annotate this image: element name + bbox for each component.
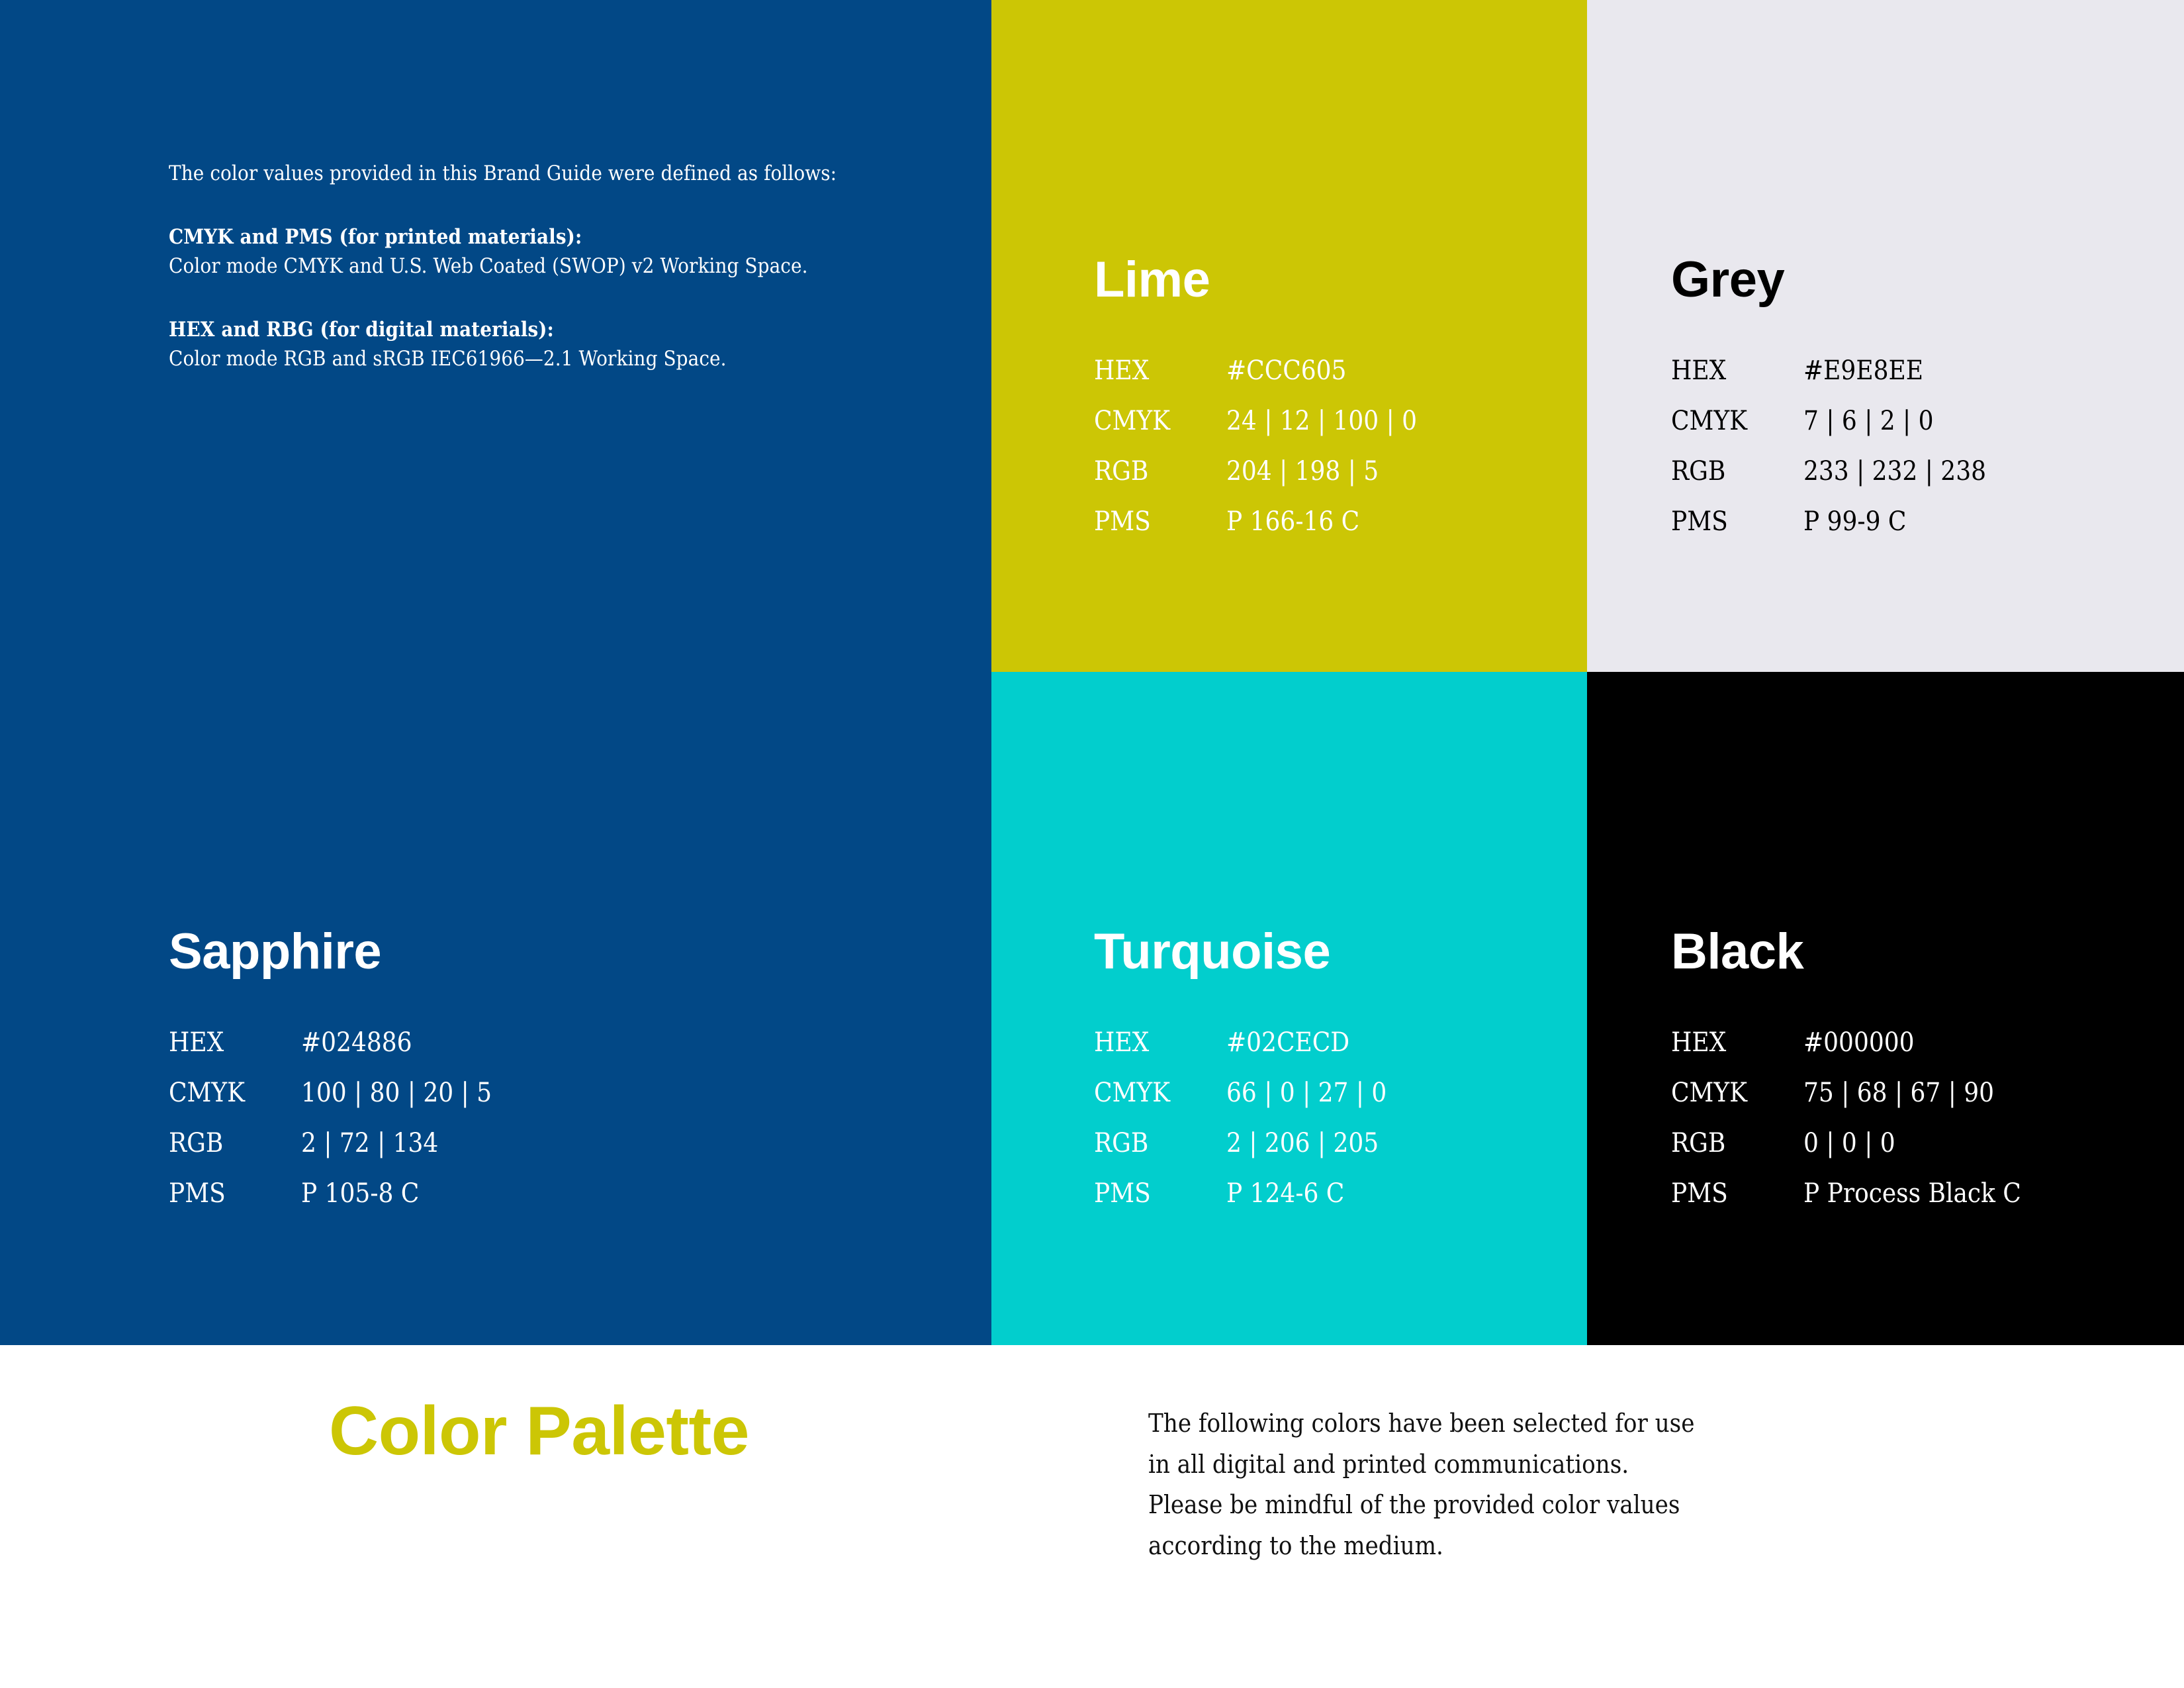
spec-label-cmyk: CMYK xyxy=(1671,1080,1803,1130)
spec-value-hex: #000000 xyxy=(1803,1029,2021,1080)
swatch-title-turquoise: Turquoise xyxy=(1094,927,1387,977)
spec-label-rgb: RGB xyxy=(1094,458,1226,508)
spec-row-cmyk: CMYK 7 | 6 | 2 | 0 xyxy=(1671,408,1986,458)
swatch-block-black: Black HEX #000000 CMYK 75 | 68 | 67 | 90… xyxy=(1671,927,2021,1207)
spec-row-cmyk: CMYK 24 | 12 | 100 | 0 xyxy=(1094,408,1417,458)
spec-value-rgb: 2 | 206 | 205 xyxy=(1226,1130,1387,1180)
spec-row-pms: PMS P 99-9 C xyxy=(1671,508,1986,535)
spec-label-hex: HEX xyxy=(1094,357,1226,408)
spec-label-rgb: RGB xyxy=(1094,1130,1226,1180)
spec-row-pms: PMS P 124-6 C xyxy=(1094,1180,1387,1207)
spec-row-hex: HEX #CCC605 xyxy=(1094,357,1417,408)
spec-value-cmyk: 100 | 80 | 20 | 5 xyxy=(301,1080,492,1130)
spec-row-rgb: RGB 204 | 198 | 5 xyxy=(1094,458,1417,508)
swatch-spacer-sapphire xyxy=(169,977,492,1029)
intro-text-block: The color values provided in this Brand … xyxy=(169,159,870,373)
spec-table-turquoise: HEX #02CECD CMYK 66 | 0 | 27 | 0 RGB 2 |… xyxy=(1094,1029,1387,1207)
swatch-spacer-turquoise xyxy=(1094,977,1387,1029)
spec-row-hex: HEX #000000 xyxy=(1671,1029,2021,1080)
swatch-spacer-grey xyxy=(1671,305,1986,357)
swatch-title-lime: Lime xyxy=(1094,255,1417,305)
spec-value-cmyk: 75 | 68 | 67 | 90 xyxy=(1803,1080,2021,1130)
spec-label-cmyk: CMYK xyxy=(1094,408,1226,458)
spec-table-sapphire: HEX #024886 CMYK 100 | 80 | 20 | 5 RGB 2… xyxy=(169,1029,492,1207)
spec-label-pms: PMS xyxy=(1671,1180,1803,1207)
spec-value-pms: P 99-9 C xyxy=(1803,508,1986,535)
footer-description-line: The following colors have been selected … xyxy=(1148,1403,1969,1444)
spec-value-pms: P 124-6 C xyxy=(1226,1180,1387,1207)
spec-label-hex: HEX xyxy=(169,1029,301,1080)
spec-value-rgb: 233 | 232 | 238 xyxy=(1803,458,1986,508)
page-title: Color Palette xyxy=(329,1397,749,1466)
spec-value-hex: #E9E8EE xyxy=(1803,357,1986,408)
spec-value-pms: P Process Black C xyxy=(1803,1180,2021,1207)
footer-description-line: Please be mindful of the provided color … xyxy=(1148,1485,1969,1526)
intro-print-heading: CMYK and PMS (for printed materials): xyxy=(169,222,870,252)
spec-value-cmyk: 7 | 6 | 2 | 0 xyxy=(1803,408,1986,458)
spec-value-rgb: 2 | 72 | 134 xyxy=(301,1130,492,1180)
spec-table-grey: HEX #E9E8EE CMYK 7 | 6 | 2 | 0 RGB 233 |… xyxy=(1671,357,1986,535)
intro-lead: The color values provided in this Brand … xyxy=(169,159,870,188)
spec-row-rgb: RGB 2 | 206 | 205 xyxy=(1094,1130,1387,1180)
spec-value-cmyk: 66 | 0 | 27 | 0 xyxy=(1226,1080,1387,1130)
spec-label-rgb: RGB xyxy=(169,1130,301,1180)
swatch-title-sapphire: Sapphire xyxy=(169,927,492,977)
swatch-block-grey: Grey HEX #E9E8EE CMYK 7 | 6 | 2 | 0 RGB … xyxy=(1671,255,1986,535)
spec-row-hex: HEX #024886 xyxy=(169,1029,492,1080)
spec-row-cmyk: CMYK 100 | 80 | 20 | 5 xyxy=(169,1080,492,1130)
spec-value-pms: P 166-16 C xyxy=(1226,508,1417,535)
spec-row-pms: PMS P Process Black C xyxy=(1671,1180,2021,1207)
spec-label-hex: HEX xyxy=(1094,1029,1226,1080)
swatch-block-turquoise: Turquoise HEX #02CECD CMYK 66 | 0 | 27 |… xyxy=(1094,927,1387,1207)
spec-value-hex: #02CECD xyxy=(1226,1029,1387,1080)
spec-row-hex: HEX #E9E8EE xyxy=(1671,357,1986,408)
spec-label-rgb: RGB xyxy=(1671,1130,1803,1180)
spec-row-pms: PMS P 105-8 C xyxy=(169,1180,492,1207)
intro-spacer-1 xyxy=(169,188,870,222)
footer-description: The following colors have been selected … xyxy=(1148,1403,1969,1566)
intro-digital-body: Color mode RGB and sRGB IEC61966—2.1 Wor… xyxy=(169,344,870,373)
spec-label-pms: PMS xyxy=(1094,1180,1226,1207)
spec-label-hex: HEX xyxy=(1671,1029,1803,1080)
spec-label-pms: PMS xyxy=(1671,508,1803,535)
spec-table-lime: HEX #CCC605 CMYK 24 | 12 | 100 | 0 RGB 2… xyxy=(1094,357,1417,535)
spec-label-cmyk: CMYK xyxy=(169,1080,301,1130)
spec-value-rgb: 204 | 198 | 5 xyxy=(1226,458,1417,508)
spec-value-cmyk: 24 | 12 | 100 | 0 xyxy=(1226,408,1417,458)
swatch-title-grey: Grey xyxy=(1671,255,1986,305)
intro-spacer-2 xyxy=(169,281,870,315)
spec-row-rgb: RGB 0 | 0 | 0 xyxy=(1671,1130,2021,1180)
spec-value-hex: #024886 xyxy=(301,1029,492,1080)
swatch-spacer-lime xyxy=(1094,305,1417,357)
spec-row-hex: HEX #02CECD xyxy=(1094,1029,1387,1080)
swatch-block-lime: Lime HEX #CCC605 CMYK 24 | 12 | 100 | 0 … xyxy=(1094,255,1417,535)
spec-label-pms: PMS xyxy=(1094,508,1226,535)
intro-print-body: Color mode CMYK and U.S. Web Coated (SWO… xyxy=(169,252,870,281)
swatch-title-black: Black xyxy=(1671,927,2021,977)
spec-row-pms: PMS P 166-16 C xyxy=(1094,508,1417,535)
spec-table-black: HEX #000000 CMYK 75 | 68 | 67 | 90 RGB 0… xyxy=(1671,1029,2021,1207)
spec-row-cmyk: CMYK 66 | 0 | 27 | 0 xyxy=(1094,1080,1387,1130)
spec-label-pms: PMS xyxy=(169,1180,301,1207)
spec-label-cmyk: CMYK xyxy=(1671,408,1803,458)
spec-row-rgb: RGB 233 | 232 | 238 xyxy=(1671,458,1986,508)
spec-value-pms: P 105-8 C xyxy=(301,1180,492,1207)
swatch-spacer-black xyxy=(1671,977,2021,1029)
footer-description-line: according to the medium. xyxy=(1148,1526,1969,1567)
spec-row-cmyk: CMYK 75 | 68 | 67 | 90 xyxy=(1671,1080,2021,1130)
spec-label-hex: HEX xyxy=(1671,357,1803,408)
spec-label-cmyk: CMYK xyxy=(1094,1080,1226,1130)
spec-label-rgb: RGB xyxy=(1671,458,1803,508)
footer-description-line: in all digital and printed communication… xyxy=(1148,1444,1969,1485)
brand-guide-color-palette-page: The color values provided in this Brand … xyxy=(0,0,2184,1688)
swatch-block-sapphire: Sapphire HEX #024886 CMYK 100 | 80 | 20 … xyxy=(169,927,492,1207)
spec-value-rgb: 0 | 0 | 0 xyxy=(1803,1130,2021,1180)
spec-value-hex: #CCC605 xyxy=(1226,357,1417,408)
intro-digital-heading: HEX and RBG (for digital materials): xyxy=(169,315,870,344)
spec-row-rgb: RGB 2 | 72 | 134 xyxy=(169,1130,492,1180)
